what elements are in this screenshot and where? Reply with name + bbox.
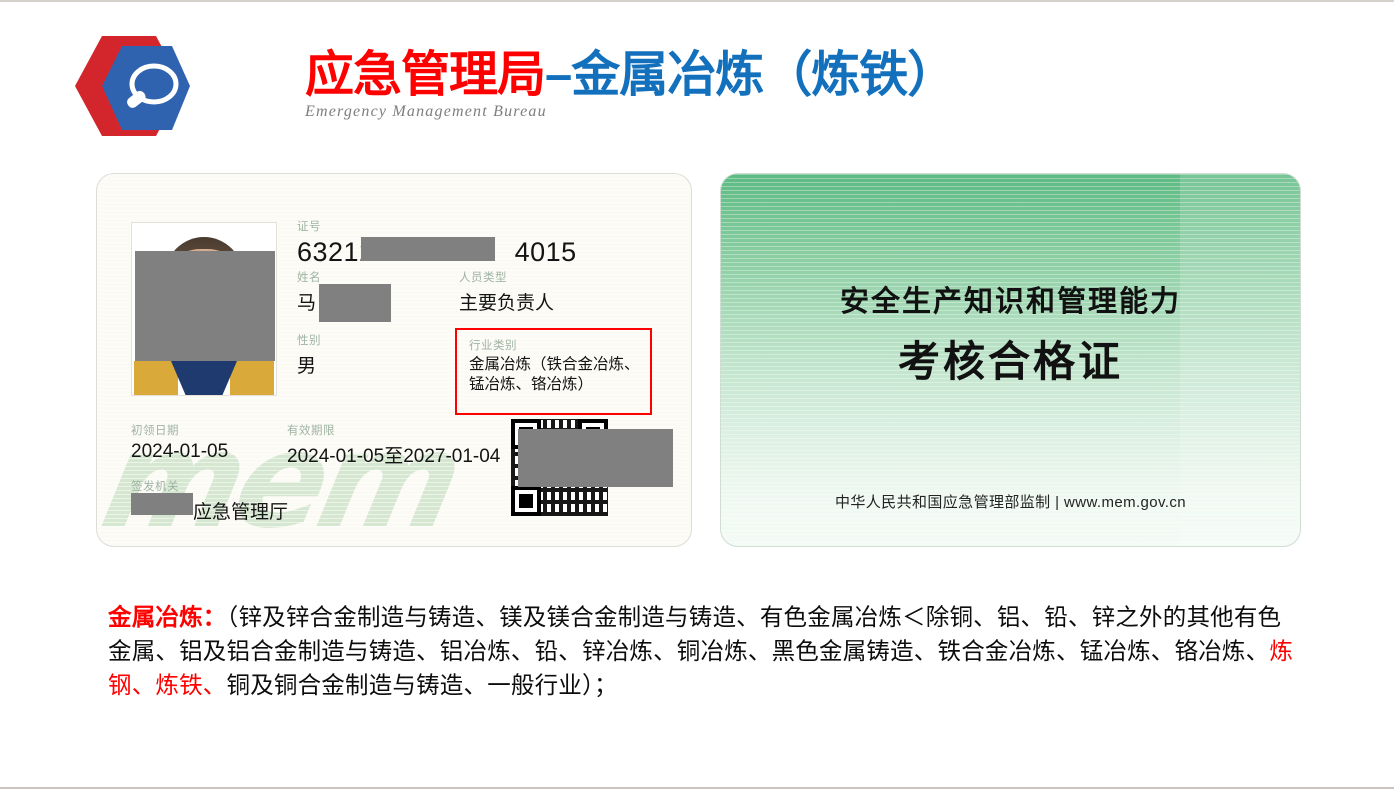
license-card: mem 证号 632124015 姓名 马: [96, 173, 692, 547]
id-value-tail: 4015: [515, 237, 577, 267]
field-value-first-issue: 2024-01-05: [131, 441, 228, 463]
field-label-name: 姓名: [297, 269, 321, 285]
slide-canvas: 应急管理局–金属冶炼（炼铁） Emergency Management Bure…: [0, 0, 1394, 789]
photo-redaction-box: [135, 251, 275, 361]
field-value-industry: 金属冶炼（铁合金冶炼、锰冶炼、铬冶炼）: [469, 355, 645, 396]
field-label-first-issue: 初领日期: [131, 422, 228, 438]
id-number-redaction-box: [361, 237, 495, 261]
photo-shoulder-right: [230, 361, 274, 395]
issuer-value-text: 应急管理厅: [193, 502, 288, 523]
field-label-id: 证号: [297, 218, 577, 234]
field-value-validity: 2024-01-05至2027-01-04: [287, 441, 500, 468]
name-redaction-box: [319, 284, 391, 322]
photo-collar: [171, 361, 237, 395]
qr-code-redaction-box: [518, 429, 673, 487]
certificate-footer: 中华人民共和国应急管理部监制 | www.mem.gov.cn: [721, 491, 1300, 512]
description-paragraph: 金属冶炼：（锌及锌合金制造与铸造、镁及镁合金制造与铸造、有色金属冶炼＜除铜、铝、…: [108, 600, 1298, 702]
qr-eye-bottom-left: [511, 486, 541, 516]
paragraph-part2: 铜及铜合金制造与铸造、一般行业）；: [227, 672, 618, 698]
photo-shoulder-left: [134, 361, 178, 395]
paragraph-part1: （锌及锌合金制造与铸造、镁及镁合金制造与铸造、有色金属冶炼＜除铜、铝、铅、锌之外…: [108, 604, 1281, 664]
certificate-card: 安全生产知识和管理能力 考核合格证 中华人民共和国应急管理部监制 | www.m…: [720, 173, 1301, 547]
field-label-issuer: 签发机关: [131, 478, 288, 494]
field-person-type: 人员类型 主要负责人: [459, 269, 554, 315]
field-label-gender: 性别: [297, 332, 321, 348]
certificate-title-line2: 考核合格证: [721, 328, 1300, 389]
field-label-validity: 有效期限: [287, 422, 500, 438]
certificate-title-line1: 安全生产知识和管理能力: [721, 278, 1300, 320]
field-gender: 性别 男: [297, 332, 321, 378]
field-value-person-type: 主要负责人: [459, 288, 554, 315]
field-validity: 有效期限 2024-01-05至2027-01-04: [287, 422, 500, 468]
field-value-name: 马: [297, 288, 321, 315]
field-first-issue-date: 初领日期 2024-01-05: [131, 422, 228, 463]
field-label-industry: 行业类别: [469, 337, 650, 353]
issuer-redaction-box: [131, 493, 193, 515]
field-label-person-type: 人员类型: [459, 269, 554, 285]
paragraph-heading: 金属冶炼：: [108, 604, 227, 630]
field-value-gender: 男: [297, 351, 321, 378]
industry-category-highlight: 行业类别 金属冶炼（铁合金冶炼、锰冶炼、铬冶炼）: [455, 328, 652, 415]
field-name: 姓名 马: [297, 269, 321, 315]
